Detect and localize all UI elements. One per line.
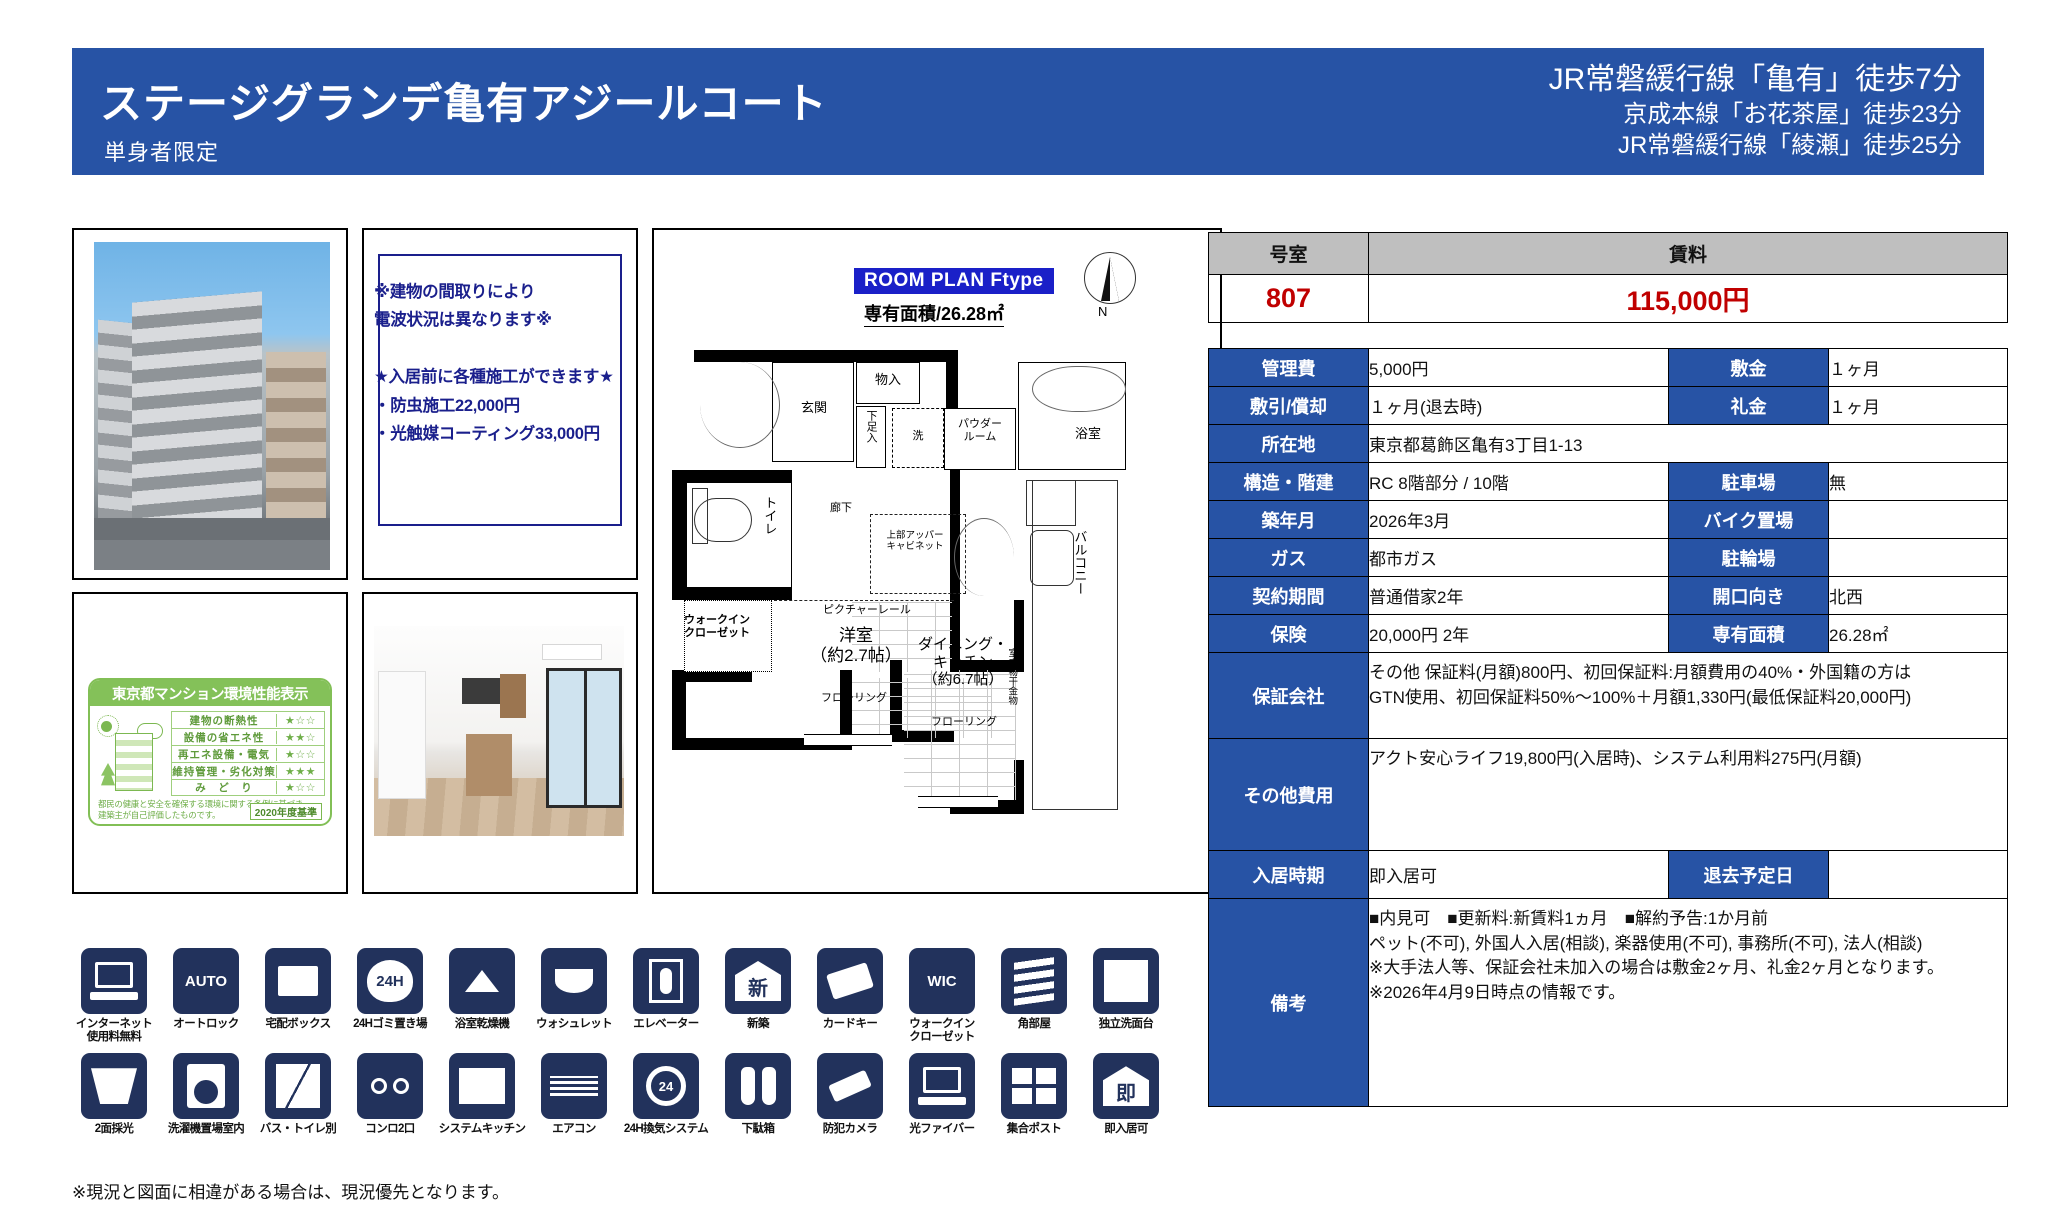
bath-toilet-separate-icon <box>265 1053 331 1119</box>
feature-shoe-box[interactable]: 下駄箱 <box>712 1053 804 1136</box>
feature-label: エレベーター <box>620 1018 712 1031</box>
value-insurance: 20,000円 2年 <box>1369 615 1669 653</box>
key-facing: 開口向き <box>1669 577 1829 615</box>
feature-label: 下駄箱 <box>712 1123 804 1136</box>
feature-label: 防犯カメラ <box>804 1123 896 1136</box>
notice-text: ※建物の間取りにより 電波状況は異なります※ ★入居前に各種施工ができます★ ・… <box>374 278 632 448</box>
key-bicycle-parking: 駐輪場 <box>1669 539 1829 577</box>
air-conditioner-icon <box>541 1053 607 1119</box>
value-guarantor: その他 保証料(月額)800円、初回保証料:月額費用の40%・外国籍の方は GT… <box>1369 653 2008 739</box>
wall-cabinet <box>500 674 526 718</box>
floor-plan-drawing: 玄関 物入 下足入 洗 パウダー ルーム 浴室 トイレ <box>654 230 1220 892</box>
bath-dryer-icon <box>449 948 515 1014</box>
feature-label: コンロ2口 <box>344 1123 436 1136</box>
immediate-movein-icon: 即 <box>1093 1053 1159 1119</box>
feature-label: 集合ポスト <box>988 1123 1080 1136</box>
feature-label: 独立洗面台 <box>1080 1018 1172 1031</box>
access-line-2: 京成本線「お花茶屋」徒歩23分 <box>1549 99 1962 130</box>
env-rating-row: 再エネ設備・電気 ★☆☆ <box>171 745 325 762</box>
feature-bath-dryer[interactable]: 浴室乾燥機 <box>436 948 528 1043</box>
building-exterior-photo <box>72 228 348 580</box>
env-rating-row: 維持管理・劣化対策 ★★★ <box>171 762 325 779</box>
table-row: 管理費 5,000円 敷金 １ヶ月 <box>1209 349 2008 387</box>
feature-elevator[interactable]: エレベーター <box>620 948 712 1043</box>
label-balcony: バルコニー <box>1072 530 1087 595</box>
key-key-money: 礼金 <box>1669 387 1829 425</box>
independent-vanity-icon <box>1093 948 1159 1014</box>
table-row: 備考 ■内見可 ■更新料:新賃料1ヵ月 ■解約予告:1か月前 ペット(不可), … <box>1209 899 2008 1107</box>
eco-building-icon <box>95 711 167 797</box>
corner-room-icon <box>1001 948 1067 1014</box>
env-row-label: 建物の断熱性 <box>172 713 276 728</box>
value-rent: 115,000円 <box>1369 275 2008 323</box>
key-amortization: 敷引/償却 <box>1209 387 1369 425</box>
table-row: 構造・階建 RC 8階部分 / 10階 駐車場 無 <box>1209 463 2008 501</box>
disclaimer-text: ※現況と図面に相違がある場合は、現況優先となります。 <box>72 1178 509 1203</box>
key-insurance: 保険 <box>1209 615 1369 653</box>
key-movein-date: 入居時期 <box>1209 851 1369 899</box>
feature-walk-in-closet[interactable]: WIC ウォークイン クローゼット <box>896 948 988 1043</box>
value-amortization: １ヶ月(退去時) <box>1369 387 1669 425</box>
header-rent: 賃料 <box>1369 233 2008 275</box>
value-bike-parking <box>1829 501 2008 539</box>
feature-mailbox[interactable]: 集合ポスト <box>988 1053 1080 1136</box>
feature-ventilation-24h[interactable]: 24 24H換気システム <box>620 1053 712 1136</box>
label-bath: 浴室 <box>1058 426 1118 441</box>
label-mono-ire: 物入 <box>860 372 916 387</box>
page-subtitle: 単身者限定 <box>104 135 219 167</box>
feature-label: ウォークイン クローゼット <box>896 1018 988 1043</box>
new-build-icon: 新 <box>725 948 791 1014</box>
feature-independent-vanity[interactable]: 独立洗面台 <box>1080 948 1172 1043</box>
building-right-neighbor <box>266 352 326 542</box>
feature-icon-grid: インターネット 使用料無料 AUTO オートロック 宅配ボックス 24H 24H… <box>68 948 1176 1136</box>
label-picture-rail: ピクチャーレール <box>772 604 962 617</box>
key-contract-term: 契約期間 <box>1209 577 1369 615</box>
washlet-icon <box>541 948 607 1014</box>
feature-label: 角部屋 <box>988 1018 1080 1031</box>
feature-auto-lock[interactable]: AUTO オートロック <box>160 948 252 1043</box>
balcony-window <box>546 668 622 808</box>
env-row-stars: ★★★ <box>276 765 324 778</box>
value-key-money: １ヶ月 <box>1829 387 2008 425</box>
value-other-fees: アクト安心ライフ19,800円(入居時)、システム利用料275円(月額) <box>1369 739 2008 851</box>
rent-summary-table: 号室 賃料 807 115,000円 <box>1208 232 2008 323</box>
feature-label: 24Hゴミ置き場 <box>344 1018 436 1031</box>
env-row-label: 再エネ設備・電気 <box>172 747 276 762</box>
key-floor-area: 専有面積 <box>1669 615 1829 653</box>
label-sen: 洗 <box>898 430 938 443</box>
feature-label: カードキー <box>804 1018 896 1031</box>
delivery-box-icon <box>265 948 331 1014</box>
feature-label: 即入居可 <box>1080 1123 1172 1136</box>
feature-label: 宅配ボックス <box>252 1018 344 1031</box>
value-built-date: 2026年3月 <box>1369 501 1669 539</box>
elevator-icon <box>633 948 699 1014</box>
room-photo-image <box>374 626 624 836</box>
optical-fiber-icon <box>909 1053 975 1119</box>
env-rating-rows: 建物の断熱性 ★☆☆ 設備の省エネ性 ★★☆ 再エネ設備・電気 ★☆☆ 維持管理… <box>171 711 325 797</box>
label-flooring-2: フローリング <box>912 716 1016 729</box>
env-row-stars: ★★☆ <box>276 731 324 744</box>
feature-immediate-movein[interactable]: 即 即入居可 <box>1080 1053 1172 1136</box>
value-remarks: ■内見可 ■更新料:新賃料1ヵ月 ■解約予告:1か月前 ペット(不可), 外国人… <box>1369 899 2008 1107</box>
feature-label: オートロック <box>160 1018 252 1031</box>
ventilation-24h-icon: 24 <box>633 1053 699 1119</box>
feature-washlet[interactable]: ウォシュレット <box>528 948 620 1043</box>
room-interior-photo <box>362 592 638 894</box>
label-indoor-dryer: 室内物干金物 <box>1006 648 1017 705</box>
label-western-room: 洋室 （約2.7帖） <box>786 626 926 666</box>
table-row: 契約期間 普通借家2年 開口向き 北西 <box>1209 577 2008 615</box>
card-key-icon <box>817 948 883 1014</box>
key-management-fee: 管理費 <box>1209 349 1369 387</box>
env-label-title: 東京都マンション環境性能表示 <box>90 680 330 706</box>
key-bike-parking: バイク置場 <box>1669 501 1829 539</box>
table-row: 所在地 東京都葛飾区亀有3丁目1-13 <box>1209 425 2008 463</box>
label-rouka: 廊下 <box>806 502 876 515</box>
env-label-year: 2020年度基準 <box>250 803 322 820</box>
access-info: JR常磐緩行線「亀有」徒歩7分 京成本線「お花茶屋」徒歩23分 JR常磐緩行線「… <box>1549 60 1962 161</box>
air-conditioner-unit <box>542 644 602 660</box>
table-row: その他費用 アクト安心ライフ19,800円(入居時)、システム利用料275円(月… <box>1209 739 2008 851</box>
key-moveout-date: 退去予定日 <box>1669 851 1829 899</box>
key-gas: ガス <box>1209 539 1369 577</box>
feature-trash-24h[interactable]: 24H 24Hゴミ置き場 <box>344 948 436 1043</box>
label-dining-kitchen: ダイニング・ キッチン （約6.7帖） <box>908 636 1018 689</box>
feature-air-conditioner[interactable]: エアコン <box>528 1053 620 1136</box>
feature-two-side-light[interactable]: 2面採光 <box>68 1053 160 1136</box>
env-row-stars: ★☆☆ <box>276 748 324 761</box>
value-bicycle-parking <box>1829 539 2008 577</box>
mailbox-icon <box>1001 1053 1067 1119</box>
feature-label: 新築 <box>712 1018 804 1031</box>
feature-optical-fiber[interactable]: 光ファイバー <box>896 1053 988 1136</box>
value-structure: RC 8階部分 / 10階 <box>1369 463 1669 501</box>
key-parking: 駐車場 <box>1669 463 1829 501</box>
label-genkan: 玄関 <box>784 400 844 415</box>
env-row-stars: ★☆☆ <box>276 714 324 727</box>
table-row: 入居時期 即入居可 退去予定日 <box>1209 851 2008 899</box>
feature-card-key[interactable]: カードキー <box>804 948 896 1043</box>
feature-delivery-box[interactable]: 宅配ボックス <box>252 948 344 1043</box>
key-address: 所在地 <box>1209 425 1369 463</box>
property-flyer: ステージグランデ亀有アジールコート 単身者限定 JR常磐緩行線「亀有」徒歩7分 … <box>0 0 2056 1220</box>
env-label-body: 建物の断熱性 ★☆☆ 設備の省エネ性 ★★☆ 再エネ設備・電気 ★☆☆ 維持管理… <box>90 706 330 797</box>
key-guarantor: 保証会社 <box>1209 653 1369 739</box>
access-line-1: JR常磐緩行線「亀有」徒歩7分 <box>1549 60 1962 99</box>
access-line-3: JR常磐緩行線「綾瀬」徒歩25分 <box>1549 130 1962 161</box>
value-floor-area: 26.28㎡ <box>1829 615 2008 653</box>
feature-label: 光ファイバー <box>896 1123 988 1136</box>
feature-label: 24H換気システム <box>620 1123 712 1136</box>
laptop-globe-icon <box>81 948 147 1014</box>
feature-label: ウォシュレット <box>528 1018 620 1031</box>
feature-new-build[interactable]: 新 新築 <box>712 948 804 1043</box>
feature-label: 2面採光 <box>68 1123 160 1136</box>
feature-icon-row-2: 2面採光 洗濯機置場室内 バス・トイレ別 <box>68 1053 1176 1136</box>
header-room-no: 号室 <box>1209 233 1369 275</box>
value-facing: 北西 <box>1829 577 2008 615</box>
label-toilet: トイレ <box>762 496 777 535</box>
property-detail-table: 管理費 5,000円 敷金 １ヶ月 敷引/償却 １ヶ月(退去時) 礼金 １ヶ月 … <box>1208 348 2008 1107</box>
env-row-label: 設備の省エネ性 <box>172 730 276 745</box>
two-burner-stove-icon <box>357 1053 423 1119</box>
building-road <box>94 540 330 570</box>
building-photo-image <box>94 242 330 570</box>
value-room-no: 807 <box>1209 275 1369 323</box>
range-hood <box>462 678 502 704</box>
system-kitchen-icon <box>449 1053 515 1119</box>
env-row-label: 維持管理・劣化対策 <box>172 764 276 779</box>
feature-label: バス・トイレ別 <box>252 1123 344 1136</box>
table-row: ガス 都市ガス 駐輪場 <box>1209 539 2008 577</box>
value-parking: 無 <box>1829 463 2008 501</box>
value-deposit: １ヶ月 <box>1829 349 2008 387</box>
feature-corner-room[interactable]: 角部屋 <box>988 948 1080 1043</box>
env-rating-row: 建物の断熱性 ★☆☆ <box>171 711 325 728</box>
feature-label: 浴室乾燥機 <box>436 1018 528 1031</box>
value-gas: 都市ガス <box>1369 539 1669 577</box>
value-address: 東京都葛飾区亀有3丁目1-13 <box>1369 425 2008 463</box>
walk-in-closet-icon: WIC <box>909 948 975 1014</box>
shoe-box-icon <box>725 1053 791 1119</box>
feature-internet-free[interactable]: インターネット 使用料無料 <box>68 948 160 1043</box>
feature-label: インターネット 使用料無料 <box>68 1018 160 1043</box>
value-movein-date: 即入居可 <box>1369 851 1669 899</box>
env-row-label: み ど り <box>172 780 276 795</box>
room-door <box>378 671 426 799</box>
key-built-date: 築年月 <box>1209 501 1369 539</box>
value-management-fee: 5,000円 <box>1369 349 1669 387</box>
label-flooring-1: フローリング <box>794 692 914 705</box>
floor-plan-panel: ROOM PLAN Ftype 専有面積/26.28㎡ N <box>652 228 1222 894</box>
env-rating-row: み ど り ★☆☆ <box>171 779 325 796</box>
page-header: ステージグランデ亀有アジールコート 単身者限定 JR常磐緩行線「亀有」徒歩7分 … <box>72 48 1984 175</box>
environment-label-panel: 東京都マンション環境性能表示 建物の断熱性 ★☆☆ 設備の省エネ性 ★★☆ <box>72 592 348 894</box>
table-row: 保険 20,000円 2年 専有面積 26.28㎡ <box>1209 615 2008 653</box>
kitchen-counter <box>466 734 512 796</box>
washer-indoor-icon <box>173 1053 239 1119</box>
feature-two-burner-stove[interactable]: コンロ2口 <box>344 1053 436 1136</box>
page-title: ステージグランデ亀有アジールコート <box>100 70 828 131</box>
label-wic: ウォークイン クローゼット <box>666 614 768 640</box>
table-row: 築年月 2026年3月 バイク置場 <box>1209 501 2008 539</box>
label-powder-room: パウダー ルーム <box>946 418 1014 444</box>
tokyo-env-performance-label: 東京都マンション環境性能表示 建物の断熱性 ★☆☆ 設備の省エネ性 ★★☆ <box>88 678 332 826</box>
key-structure: 構造・階建 <box>1209 463 1369 501</box>
trash-24h-icon: 24H <box>357 948 423 1014</box>
two-side-light-icon <box>81 1053 147 1119</box>
feature-bath-toilet-separate[interactable]: バス・トイレ別 <box>252 1053 344 1136</box>
auto-lock-icon: AUTO <box>173 948 239 1014</box>
notice-panel: ※建物の間取りにより 電波状況は異なります※ ★入居前に各種施工ができます★ ・… <box>362 228 638 580</box>
security-camera-icon <box>817 1053 883 1119</box>
value-moveout-date <box>1829 851 2008 899</box>
key-other-fees: その他費用 <box>1209 739 1369 851</box>
value-contract-term: 普通借家2年 <box>1369 577 1669 615</box>
env-row-stars: ★☆☆ <box>276 781 324 794</box>
feature-label: エアコン <box>528 1123 620 1136</box>
feature-security-camera[interactable]: 防犯カメラ <box>804 1053 896 1136</box>
feature-system-kitchen[interactable]: システムキッチン <box>436 1053 528 1136</box>
table-row: 敷引/償却 １ヶ月(退去時) 礼金 １ヶ月 <box>1209 387 2008 425</box>
feature-label: 洗濯機置場室内 <box>160 1123 252 1136</box>
env-rating-row: 設備の省エネ性 ★★☆ <box>171 728 325 745</box>
key-remarks: 備考 <box>1209 899 1369 1107</box>
table-row: 807 115,000円 <box>1209 275 2008 323</box>
feature-icon-row-1: インターネット 使用料無料 AUTO オートロック 宅配ボックス 24H 24H… <box>68 948 1176 1043</box>
key-deposit: 敷金 <box>1669 349 1829 387</box>
feature-washer-indoor[interactable]: 洗濯機置場室内 <box>160 1053 252 1136</box>
building-main-facade <box>132 291 262 552</box>
feature-label: システムキッチン <box>436 1123 528 1136</box>
label-geta-ire: 下足入 <box>864 410 877 443</box>
table-row: 号室 賃料 <box>1209 233 2008 275</box>
table-row: 保証会社 その他 保証料(月額)800円、初回保証料:月額費用の40%・外国籍の… <box>1209 653 2008 739</box>
